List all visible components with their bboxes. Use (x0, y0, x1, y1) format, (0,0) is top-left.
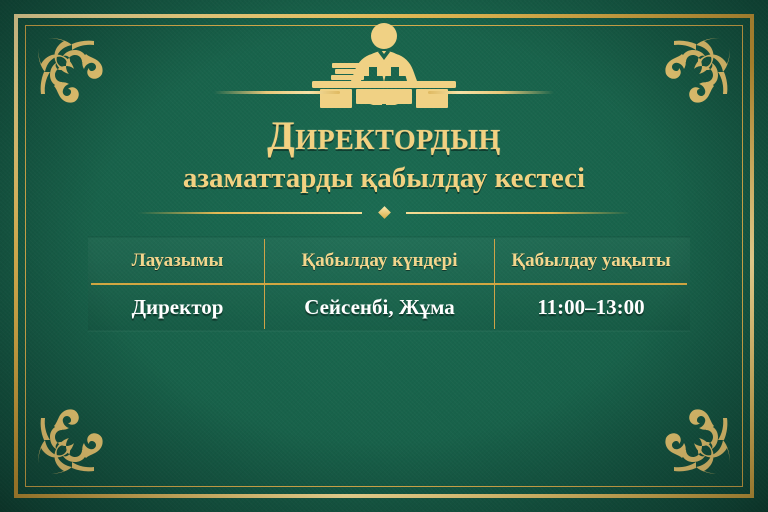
column-header-time: Қабылдау уақыты (495, 238, 689, 285)
column-header-position: Лауазымы (90, 238, 265, 285)
page-subtitle: азаматтарды қабылдау кестесі (0, 163, 768, 194)
divider-bar-right (406, 212, 630, 214)
column-header-days: Қабылдау күндері (265, 238, 495, 285)
emblem-rule-right (428, 91, 554, 94)
table-header-row: Лауазымы Қабылдау күндері Қабылдау уақыт… (90, 238, 689, 285)
diamond-divider-icon (138, 207, 630, 219)
schedule-table: Лауазымы Қабылдау күндері Қабылдау уақыт… (88, 236, 690, 332)
emblem-rule-left (214, 91, 340, 94)
divider-diamond (378, 206, 391, 219)
divider-bar-left (138, 212, 362, 214)
emblem-row (0, 18, 768, 110)
page-title: Директордың (0, 116, 768, 157)
reception-schedule-poster: Директордың азаматтарды қабылдау кестесі… (0, 0, 768, 512)
table-row: Директор Сейсенбі, Жұма 11:00–13:00 (90, 284, 689, 331)
cell-days: Сейсенбі, Жұма (265, 284, 495, 331)
director-at-desk-icon (294, 18, 474, 108)
cell-position: Директор (90, 284, 265, 331)
schedule-table-wrapper: Лауазымы Қабылдау күндері Қабылдау уақыт… (88, 236, 682, 332)
cell-time: 11:00–13:00 (495, 284, 689, 331)
poster-content: Директордың азаматтарды қабылдау кестесі (0, 0, 768, 219)
